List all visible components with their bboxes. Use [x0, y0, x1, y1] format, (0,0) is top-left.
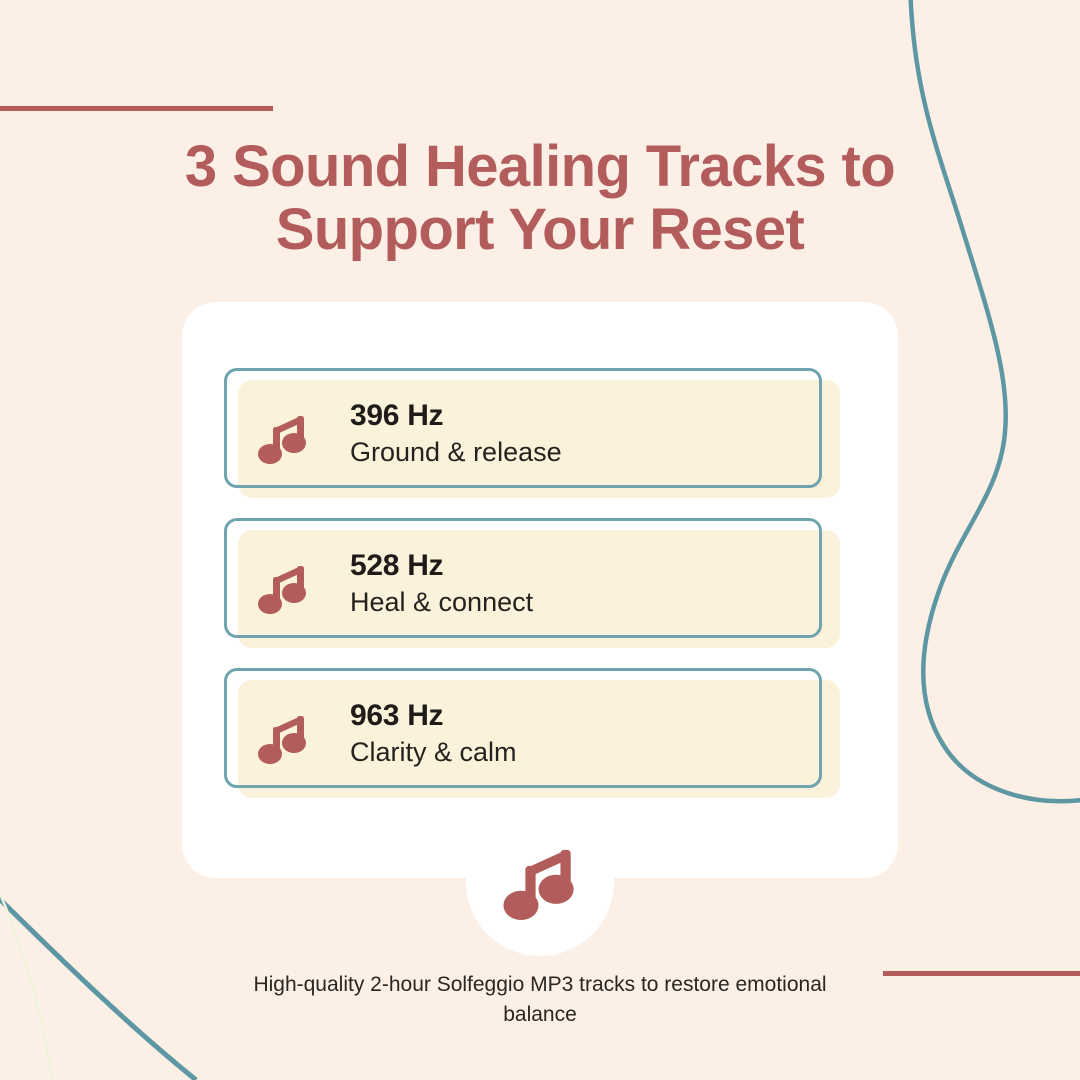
track-frequency: 396 Hz — [350, 398, 840, 433]
music-badge — [466, 808, 614, 956]
track-frequency: 963 Hz — [350, 698, 840, 733]
track-list: 396 Hz Ground & release — [224, 368, 840, 792]
track-card[interactable]: 528 Hz Heal & connect — [224, 518, 840, 642]
page-title: 3 Sound Healing Tracks to Support Your R… — [0, 136, 1080, 261]
card-content: 528 Hz Heal & connect — [224, 518, 840, 650]
music-note-icon — [224, 402, 342, 466]
track-description: Heal & connect — [350, 585, 840, 620]
music-note-icon — [224, 702, 342, 766]
card-text: 528 Hz Heal & connect — [342, 548, 840, 620]
track-card[interactable]: 396 Hz Ground & release — [224, 368, 840, 492]
teal-s-curve — [910, 0, 1080, 801]
card-text: 396 Hz Ground & release — [342, 398, 840, 470]
music-note-icon — [224, 552, 342, 616]
music-note-icon — [502, 841, 578, 923]
track-frequency: 528 Hz — [350, 548, 840, 583]
footer-caption: High-quality 2-hour Solfeggio MP3 tracks… — [0, 970, 1080, 1031]
decorative-rule-top-left — [0, 106, 273, 111]
track-description: Ground & release — [350, 435, 840, 470]
card-content: 963 Hz Clarity & calm — [224, 668, 840, 800]
track-card[interactable]: 963 Hz Clarity & calm — [224, 668, 840, 792]
card-text: 963 Hz Clarity & calm — [342, 698, 840, 770]
poster-canvas: 3 Sound Healing Tracks to Support Your R… — [0, 0, 1080, 1080]
card-content: 396 Hz Ground & release — [224, 368, 840, 500]
track-description: Clarity & calm — [350, 735, 840, 770]
